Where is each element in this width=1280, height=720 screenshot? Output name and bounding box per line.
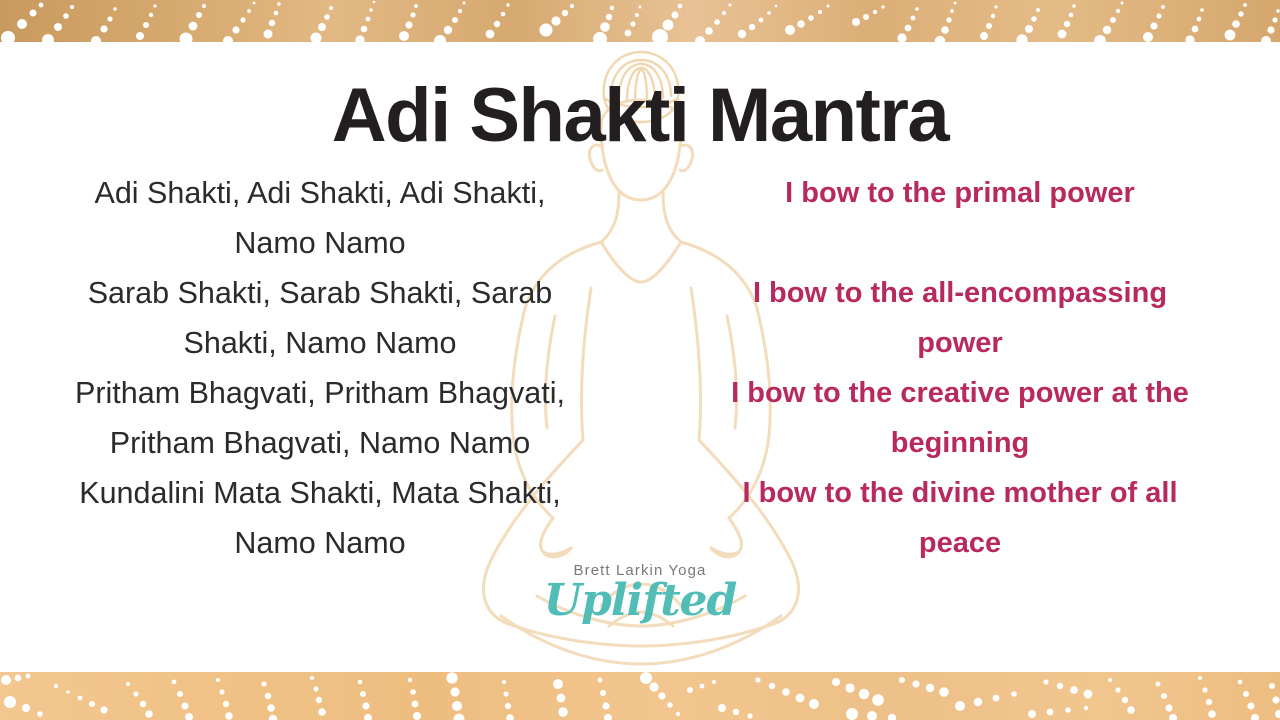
band-bottom-dot-pattern	[0, 672, 1280, 720]
decorative-band-bottom	[0, 672, 1280, 720]
mantra-line: Sarab Shakti, Sarab Shakti, Sarab	[8, 268, 632, 318]
mantra-line: Namo Namo	[8, 518, 632, 568]
mantra-line: Pritham Bhagvati, Namo Namo	[8, 418, 632, 468]
band-top-dot-pattern	[0, 0, 1280, 42]
brand-logo: Brett Larkin Yoga Uplifted	[490, 562, 790, 624]
mantra-line: Shakti, Namo Namo	[8, 318, 632, 368]
mantra-line: Adi Shakti, Adi Shakti, Adi Shakti,	[8, 168, 632, 218]
translation-column: I bow to the primal power I bow to the a…	[648, 168, 1272, 568]
mantra-line: Kundalini Mata Shakti, Mata Shakti,	[8, 468, 632, 518]
translation-line: power	[648, 318, 1272, 368]
mantra-column: Adi Shakti, Adi Shakti, Adi Shakti, Namo…	[8, 168, 632, 568]
translation-line: I bow to the all-encompassing	[648, 268, 1272, 318]
translation-line: peace	[648, 518, 1272, 568]
decorative-band-top	[0, 0, 1280, 42]
brand-script-text: Uplifted	[490, 578, 790, 624]
page-title: Adi Shakti Mantra	[0, 78, 1280, 154]
mantra-line: Namo Namo	[8, 218, 632, 268]
translation-line: I bow to the creative power at the	[648, 368, 1272, 418]
slide-canvas: Adi Shakti Mantra Adi Shakti, Adi Shakti…	[0, 0, 1280, 720]
translation-line: beginning	[648, 418, 1272, 468]
translation-line: I bow to the divine mother of all	[648, 468, 1272, 518]
mantra-line: Pritham Bhagvati, Pritham Bhagvati,	[8, 368, 632, 418]
translation-line: I bow to the primal power	[648, 168, 1272, 218]
